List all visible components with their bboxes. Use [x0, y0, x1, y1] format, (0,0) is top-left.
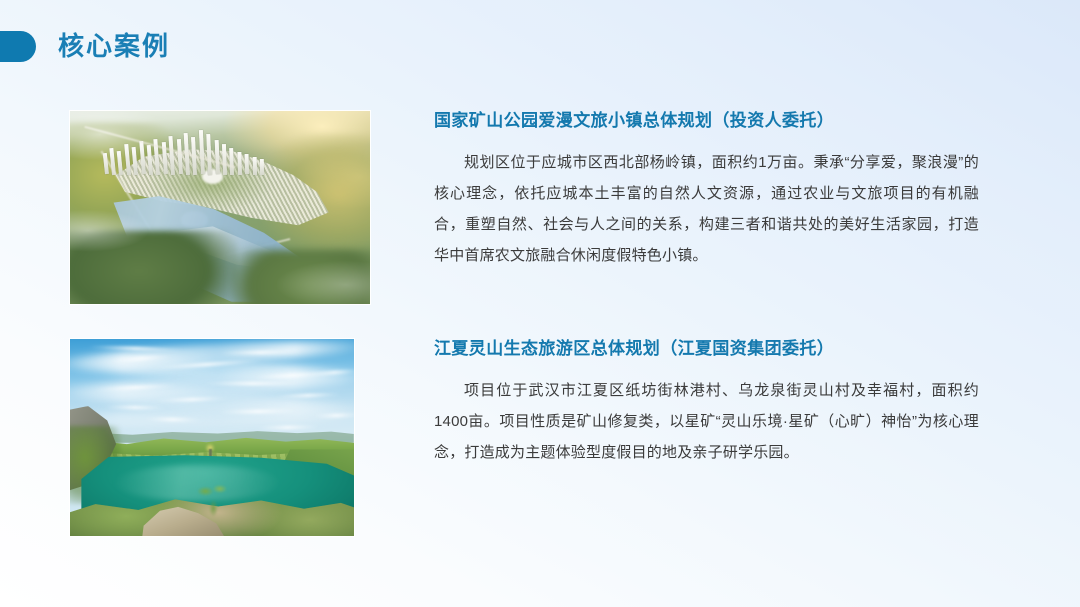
header-accent-tab: [0, 31, 36, 62]
case-block-mining-park-town: 国家矿山公园爱漫文旅小镇总体规划（投资人委托） 规划区位于应城市区西北部杨岭镇，…: [0, 110, 1080, 310]
foreground-sapling: [195, 485, 235, 524]
case-2-heading: 江夏灵山生态旅游区总体规划（江夏国资集团委托）: [434, 338, 979, 360]
case-1-heading: 国家矿山公园爱漫文旅小镇总体规划（投资人委托）: [434, 110, 979, 132]
slide-header: 核心案例: [0, 0, 1080, 100]
page-title: 核心案例: [58, 31, 170, 62]
case-1-text-column: 国家矿山公园爱漫文旅小镇总体规划（投资人委托） 规划区位于应城市区西北部杨岭镇，…: [434, 110, 979, 271]
case-2-text-column: 江夏灵山生态旅游区总体规划（江夏国资集团委托） 项目位于武汉市江夏区纸坊街林港村…: [434, 338, 979, 468]
atmospheric-haze: [70, 111, 370, 304]
cirrus-streak: [201, 382, 303, 385]
case-block-lingshan-ecotourism: 江夏灵山生态旅游区总体规划（江夏国资集团委托） 项目位于武汉市江夏区纸坊街林港村…: [0, 338, 1080, 543]
case-1-paragraph: 规划区位于应城市区西北部杨岭镇，面积约1万亩。秉承“分享爱，聚浪漫”的核心理念，…: [434, 147, 979, 271]
quarry-lake-artwork: [70, 339, 354, 536]
case-2-paragraph: 项目位于武汉市江夏区纸坊街林港村、乌龙泉街灵山村及幸福村，面积约1400亩。项目…: [434, 375, 979, 468]
aerial-masterplan-artwork: [70, 111, 370, 304]
aerial-masterplan-render-image: [69, 110, 371, 305]
quarry-lake-photo-image: [69, 338, 355, 537]
